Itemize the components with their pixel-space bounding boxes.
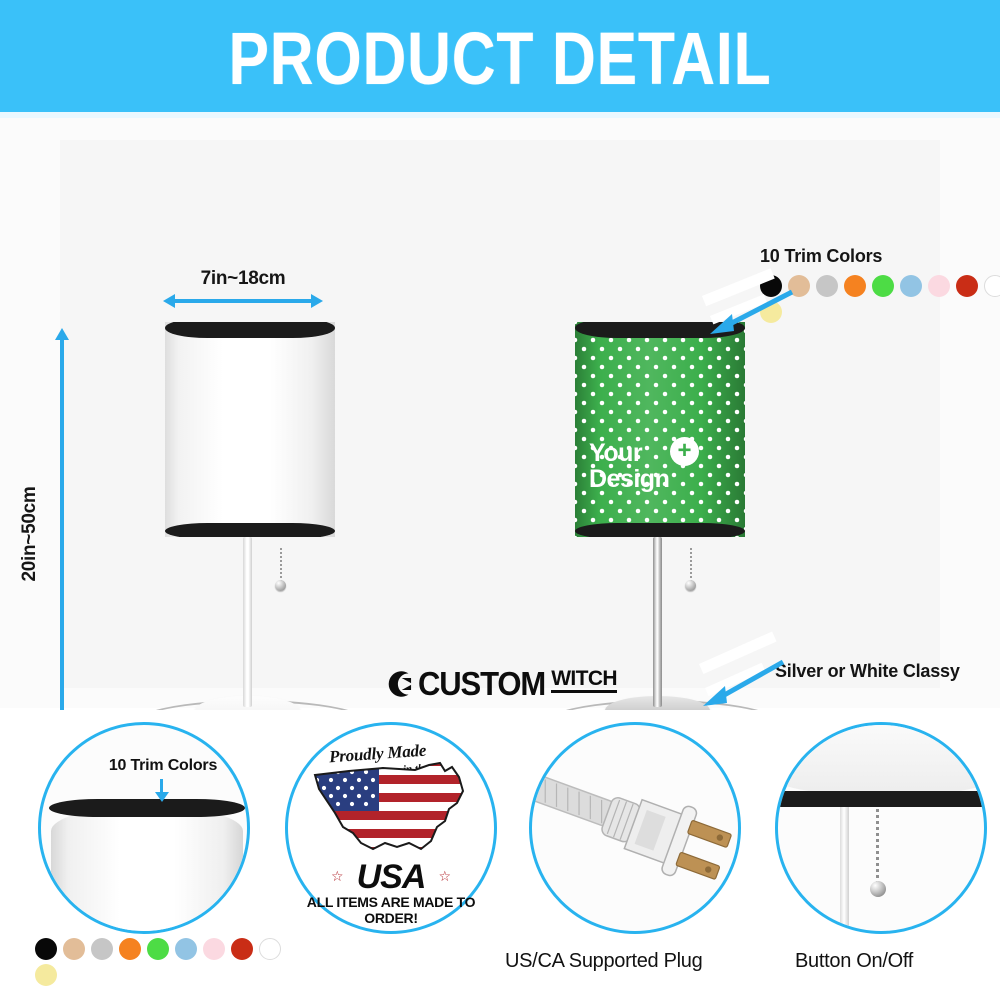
button-on-off-circle — [775, 722, 987, 934]
trim-swatch-light-blue[interactable] — [175, 938, 197, 960]
shade-closeup — [775, 722, 987, 795]
trim-colors-inner-label: 10 Trim Colors — [73, 757, 250, 775]
trim-color-swatch-grid[interactable] — [35, 938, 297, 986]
power-plug-icon — [532, 725, 738, 931]
add-design-plus-icon: + — [670, 437, 699, 466]
trim-colors-circle: 10 Trim Colors — [38, 722, 250, 934]
logo-word-custom: CUSTOM — [418, 665, 545, 703]
feature-row: 10 Trim Colors Proudly Made in the — [0, 710, 1000, 1000]
page-title: PRODUCT DETAIL — [90, 20, 910, 98]
usa-text: USA — [285, 858, 497, 897]
plug-circle — [529, 722, 741, 934]
made-to-order-text: ALL ITEMS ARE MADE TO ORDER! — [285, 894, 497, 926]
pull-chain-bead — [275, 580, 286, 591]
trim-colors-title: 10 Trim Colors — [760, 246, 1000, 267]
usa-flag-map-icon — [309, 757, 473, 861]
shade-surface — [165, 322, 335, 537]
trim-bottom — [165, 523, 335, 537]
trim-swatch-gray[interactable] — [816, 275, 838, 297]
design-line-2: Design — [589, 465, 669, 493]
trim-swatch-white[interactable] — [259, 938, 281, 960]
arrow-head-right — [311, 294, 323, 308]
button-label: Button On/Off — [795, 950, 913, 973]
pull-chain-closeup — [876, 809, 879, 885]
trim-callout-arrow — [700, 286, 800, 346]
your-design-text: Your Design — [581, 440, 741, 492]
trim-swatch-orange[interactable] — [119, 938, 141, 960]
shade-closeup — [51, 807, 243, 934]
pull-chain — [690, 548, 692, 582]
lamp-shade — [165, 322, 335, 537]
logo-word-witch: WITCH — [551, 668, 617, 693]
star-right-icon: ☆ — [438, 868, 451, 885]
pull-chain-bead-closeup — [870, 881, 886, 897]
page-header: PRODUCT DETAIL — [0, 0, 1000, 112]
bottom-trim-swatch-area — [35, 938, 295, 986]
trim-swatch-pink[interactable] — [203, 938, 225, 960]
plug-label: US/CA Supported Plug — [505, 950, 702, 973]
main-panel: 7in~18cm 20in~50cm — [0, 118, 1000, 708]
trim-swatch-orange[interactable] — [844, 275, 866, 297]
trim-swatch-pink[interactable] — [928, 275, 950, 297]
arrow-shaft — [171, 299, 315, 303]
trim-swatch-white[interactable] — [984, 275, 1000, 297]
trim-swatch-gray[interactable] — [91, 938, 113, 960]
product-detail-page: PRODUCT DETAIL 7in~18cm 20in~50cm — [0, 0, 1000, 1000]
down-arrow-icon — [153, 779, 171, 808]
brand-logo: CUSTOM WITCH — [0, 663, 1000, 705]
trim-swatch-light-blue[interactable] — [900, 275, 922, 297]
pole-closeup — [840, 807, 849, 934]
width-dimension-arrow — [163, 294, 323, 308]
trim-swatch-green[interactable] — [872, 275, 894, 297]
trim-band-closeup — [49, 799, 245, 817]
design-line-1: Your — [589, 439, 642, 467]
trim-swatch-green[interactable] — [147, 938, 169, 960]
trim-band-closeup — [775, 791, 987, 807]
trim-top — [165, 322, 335, 338]
trim-bottom — [575, 523, 745, 537]
width-dimension-label: 7in~18cm — [163, 268, 323, 290]
made-in-usa-badge: Proudly Made in the — [285, 722, 497, 934]
shade-surface — [575, 322, 745, 537]
trim-swatch-black[interactable] — [35, 938, 57, 960]
trim-swatch-red[interactable] — [956, 275, 978, 297]
trim-swatch-red[interactable] — [231, 938, 253, 960]
height-dimension-label: 20in~50cm — [19, 429, 41, 639]
pull-chain-bead — [685, 580, 696, 591]
trim-swatch-tan[interactable] — [63, 938, 85, 960]
logo-c-icon — [383, 667, 417, 701]
pull-chain — [280, 548, 282, 582]
lamp-shade: Your Design + — [575, 322, 745, 537]
trim-swatch-yellow[interactable] — [35, 964, 57, 986]
